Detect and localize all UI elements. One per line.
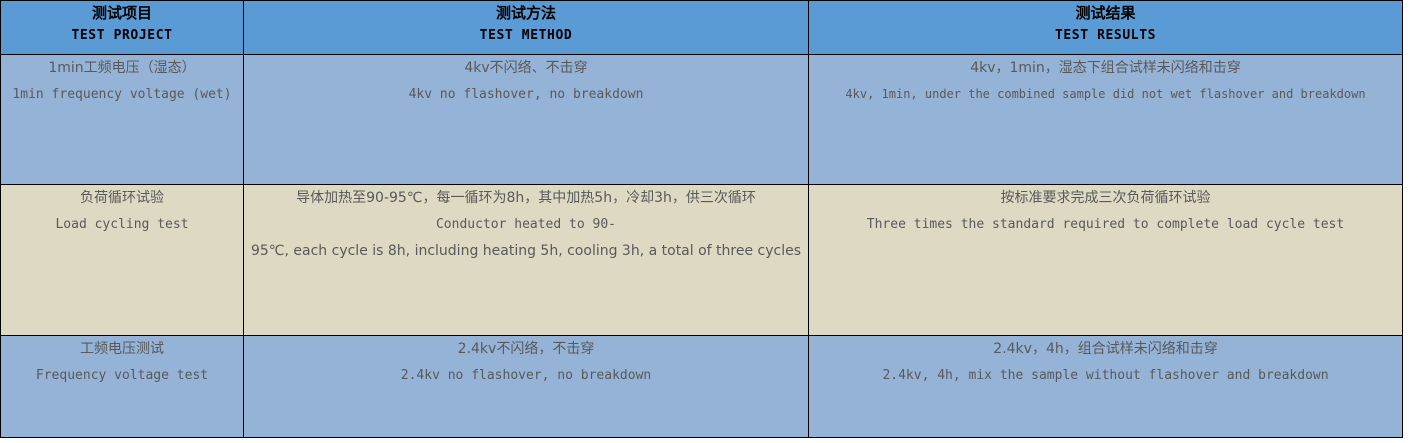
cell-test-method-en: 2.4kv no flashover, no breakdown: [244, 362, 808, 389]
spreadsheet-canvas: 测试项目 TEST PROJECT 测试方法 TEST METHOD 测试结果 …: [0, 0, 1410, 443]
cell-test-project-en: 1min frequency voltage (wet): [1, 81, 243, 108]
cell-test-results[interactable]: 2.4kv，4h，组合试样未闪络和击穿 2.4kv, 4h, mix the s…: [809, 336, 1403, 438]
table-body: 1min工频电压（湿态） 1min frequency voltage (wet…: [1, 55, 1403, 438]
cell-test-results-en: 4kv, 1min, under the combined sample did…: [809, 81, 1402, 108]
table-row: 工频电压测试 Frequency voltage test 2.4kv不闪络，不…: [1, 336, 1403, 438]
cell-test-results[interactable]: 按标准要求完成三次负荷循环试验 Three times the standard…: [809, 185, 1403, 336]
column-header-test-method-en: TEST METHOD: [244, 25, 808, 47]
cell-test-results-en: Three times the standard required to com…: [809, 211, 1402, 238]
cell-test-project-cn: 1min工频电压（湿态）: [1, 55, 243, 81]
cell-test-method-en-line2: 95℃, each cycle is 8h, including heating…: [244, 238, 808, 265]
cell-test-method[interactable]: 4kv不闪络、不击穿 4kv no flashover, no breakdow…: [244, 55, 809, 185]
table-row: 1min工频电压（湿态） 1min frequency voltage (wet…: [1, 55, 1403, 185]
column-header-test-method[interactable]: 测试方法 TEST METHOD: [244, 1, 809, 55]
cell-test-results-en: 2.4kv, 4h, mix the sample without flasho…: [809, 362, 1402, 389]
header-row: 测试项目 TEST PROJECT 测试方法 TEST METHOD 测试结果 …: [1, 1, 1403, 55]
cell-test-results-cn: 按标准要求完成三次负荷循环试验: [809, 185, 1402, 211]
cell-test-method[interactable]: 导体加热至90-95℃，每一循环为8h，其中加热5h，冷却3h，供三次循环 Co…: [244, 185, 809, 336]
cell-test-project-cn: 工频电压测试: [1, 336, 243, 362]
cell-test-project-en: Frequency voltage test: [1, 362, 243, 389]
test-results-table: 测试项目 TEST PROJECT 测试方法 TEST METHOD 测试结果 …: [0, 0, 1403, 438]
cell-test-project[interactable]: 1min工频电压（湿态） 1min frequency voltage (wet…: [1, 55, 244, 185]
cell-test-results-cn: 4kv，1min，湿态下组合试样未闪络和击穿: [809, 55, 1402, 81]
cell-test-project-cn: 负荷循环试验: [1, 185, 243, 211]
column-header-test-project-cn: 测试项目: [1, 1, 243, 25]
column-header-test-method-cn: 测试方法: [244, 1, 808, 25]
cell-test-results-cn: 2.4kv，4h，组合试样未闪络和击穿: [809, 336, 1402, 362]
column-header-test-project-en: TEST PROJECT: [1, 25, 243, 47]
cell-test-method-en: Conductor heated to 90-: [244, 211, 808, 238]
table-row: 负荷循环试验 Load cycling test 导体加热至90-95℃，每一循…: [1, 185, 1403, 336]
cell-test-project[interactable]: 负荷循环试验 Load cycling test: [1, 185, 244, 336]
cell-test-project-en: Load cycling test: [1, 211, 243, 238]
column-header-test-project[interactable]: 测试项目 TEST PROJECT: [1, 1, 244, 55]
cell-test-results[interactable]: 4kv，1min，湿态下组合试样未闪络和击穿 4kv, 1min, under …: [809, 55, 1403, 185]
cell-test-method-cn: 2.4kv不闪络，不击穿: [244, 336, 808, 362]
column-header-test-results-cn: 测试结果: [809, 1, 1402, 25]
column-header-test-results[interactable]: 测试结果 TEST RESULTS: [809, 1, 1403, 55]
column-header-test-results-en: TEST RESULTS: [809, 25, 1402, 47]
cell-test-method-cn: 4kv不闪络、不击穿: [244, 55, 808, 81]
cell-test-method-cn: 导体加热至90-95℃，每一循环为8h，其中加热5h，冷却3h，供三次循环: [244, 185, 808, 211]
cell-test-method[interactable]: 2.4kv不闪络，不击穿 2.4kv no flashover, no brea…: [244, 336, 809, 438]
cell-test-method-en: 4kv no flashover, no breakdown: [244, 81, 808, 108]
table-header: 测试项目 TEST PROJECT 测试方法 TEST METHOD 测试结果 …: [1, 1, 1403, 55]
cell-test-project[interactable]: 工频电压测试 Frequency voltage test: [1, 336, 244, 438]
